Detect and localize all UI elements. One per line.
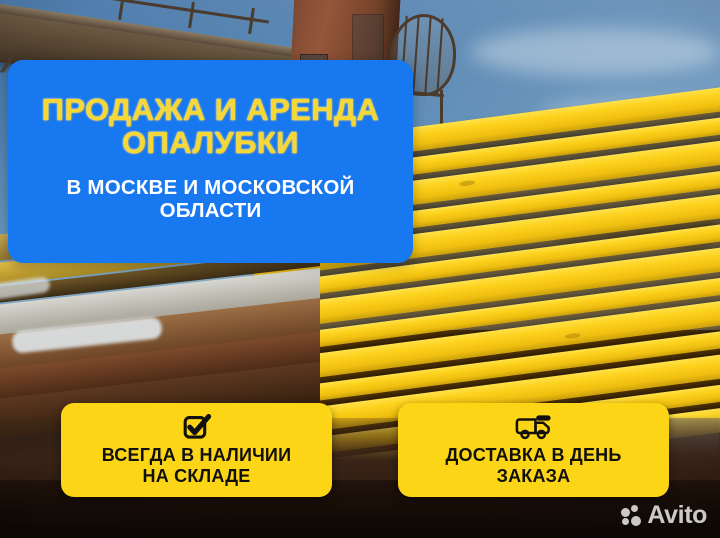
avito-dots-logo-icon <box>621 505 642 526</box>
feature-badges: ВСЕГДА В НАЛИЧИИНА СКЛАДЕ ДОСТАВКА В ДЕН… <box>61 403 669 497</box>
badge-label: ВСЕГДА В НАЛИЧИИНА СКЛАДЕ <box>102 445 291 486</box>
headline-subtitle: В МОСКВЕ И МОСКОВСКОЙОБЛАСТИ <box>67 177 355 223</box>
delivery-truck-icon <box>514 412 554 442</box>
badge-always-in-stock: ВСЕГДА В НАЛИЧИИНА СКЛАДЕ <box>61 403 332 497</box>
headline-panel: ПРОДАЖА И АРЕНДАОПАЛУБКИ В МОСКВЕ И МОСК… <box>8 60 413 263</box>
avito-listing-image: ПРОДАЖА И АРЕНДАОПАЛУБКИ В МОСКВЕ И МОСК… <box>0 0 720 538</box>
badge-same-day-delivery: ДОСТАВКА В ДЕНЬЗАКАЗА <box>398 403 669 497</box>
badge-label: ДОСТАВКА В ДЕНЬЗАКАЗА <box>446 445 622 486</box>
avito-watermark: Avito <box>621 503 707 528</box>
avito-wordmark: Avito <box>647 503 707 528</box>
headline-title: ПРОДАЖА И АРЕНДАОПАЛУБКИ <box>42 94 380 160</box>
checkbox-checked-icon <box>182 412 212 442</box>
